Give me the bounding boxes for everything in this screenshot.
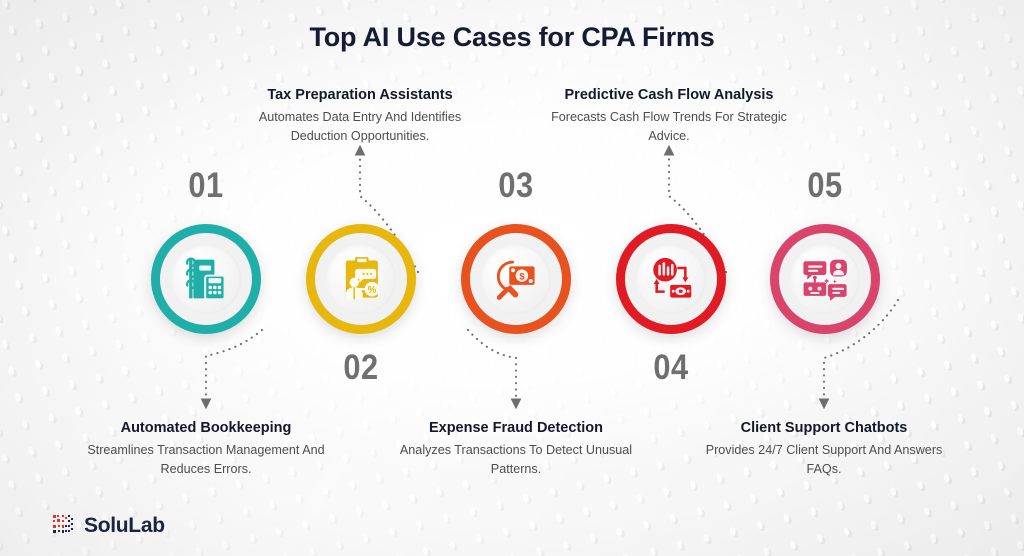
step-caption-01: Automated Bookkeeping Streamlines Transa… xyxy=(82,419,330,478)
step-circle-04[interactable] xyxy=(616,224,726,334)
step-description-01: Streamlines Transaction Management And R… xyxy=(82,441,330,478)
svg-text:%: % xyxy=(368,285,377,296)
step-title-03: Expense Fraud Detection xyxy=(392,419,640,437)
step-circle-01[interactable] xyxy=(151,224,261,334)
step-circle-03[interactable]: $ xyxy=(461,224,571,334)
step-caption-04: Predictive Cash Flow Analysis Forecasts … xyxy=(543,86,795,145)
step-description-04: Forecasts Cash Flow Trends For Strategic… xyxy=(543,108,795,145)
cash-flow-arrows-icon xyxy=(644,252,698,306)
brand-logo[interactable]: SoluLab xyxy=(52,514,165,538)
step-title-02: Tax Preparation Assistants xyxy=(234,86,486,104)
step-description-03: Analyzes Transactions To Detect Unusual … xyxy=(392,441,640,478)
step-title-01: Automated Bookkeeping xyxy=(82,419,330,437)
step-description-05: Provides 24/7 Client Support And Answers… xyxy=(700,441,948,478)
page-title: Top AI Use Cases for CPA Firms xyxy=(0,22,1024,53)
step-circle-02[interactable]: % xyxy=(306,224,416,334)
connector-step-01 xyxy=(206,330,262,406)
step-title-04: Predictive Cash Flow Analysis xyxy=(543,86,795,104)
chatbot-support-icon xyxy=(798,252,852,306)
step-circle-05[interactable] xyxy=(770,224,880,334)
step-title-05: Client Support Chatbots xyxy=(700,419,948,437)
solulab-qr-mark-icon xyxy=(52,514,76,538)
step-caption-02: Tax Preparation Assistants Automates Dat… xyxy=(234,86,486,145)
step-number-02: 02 xyxy=(313,348,410,388)
magnifier-banknote-icon: $ xyxy=(489,252,543,306)
connector-step-03 xyxy=(468,330,516,406)
step-caption-03: Expense Fraud Detection Analyzes Transac… xyxy=(392,419,640,478)
step-number-03: 03 xyxy=(468,166,565,206)
step-description-02: Automates Data Entry And Identifies Dedu… xyxy=(234,108,486,145)
step-number-04: 04 xyxy=(623,348,720,388)
infographic-canvas: Top AI Use Cases for CPA Firms 01 xyxy=(0,0,1024,556)
step-number-05: 05 xyxy=(777,166,874,206)
brand-name: SoluLab xyxy=(84,514,165,538)
step-caption-05: Client Support Chatbots Provides 24/7 Cl… xyxy=(700,419,948,478)
svg-text:$: $ xyxy=(519,271,525,281)
tax-clipboard-advisor-icon: % xyxy=(334,252,388,306)
ledger-calculator-icon xyxy=(179,252,233,306)
step-number-01: 01 xyxy=(158,166,255,206)
